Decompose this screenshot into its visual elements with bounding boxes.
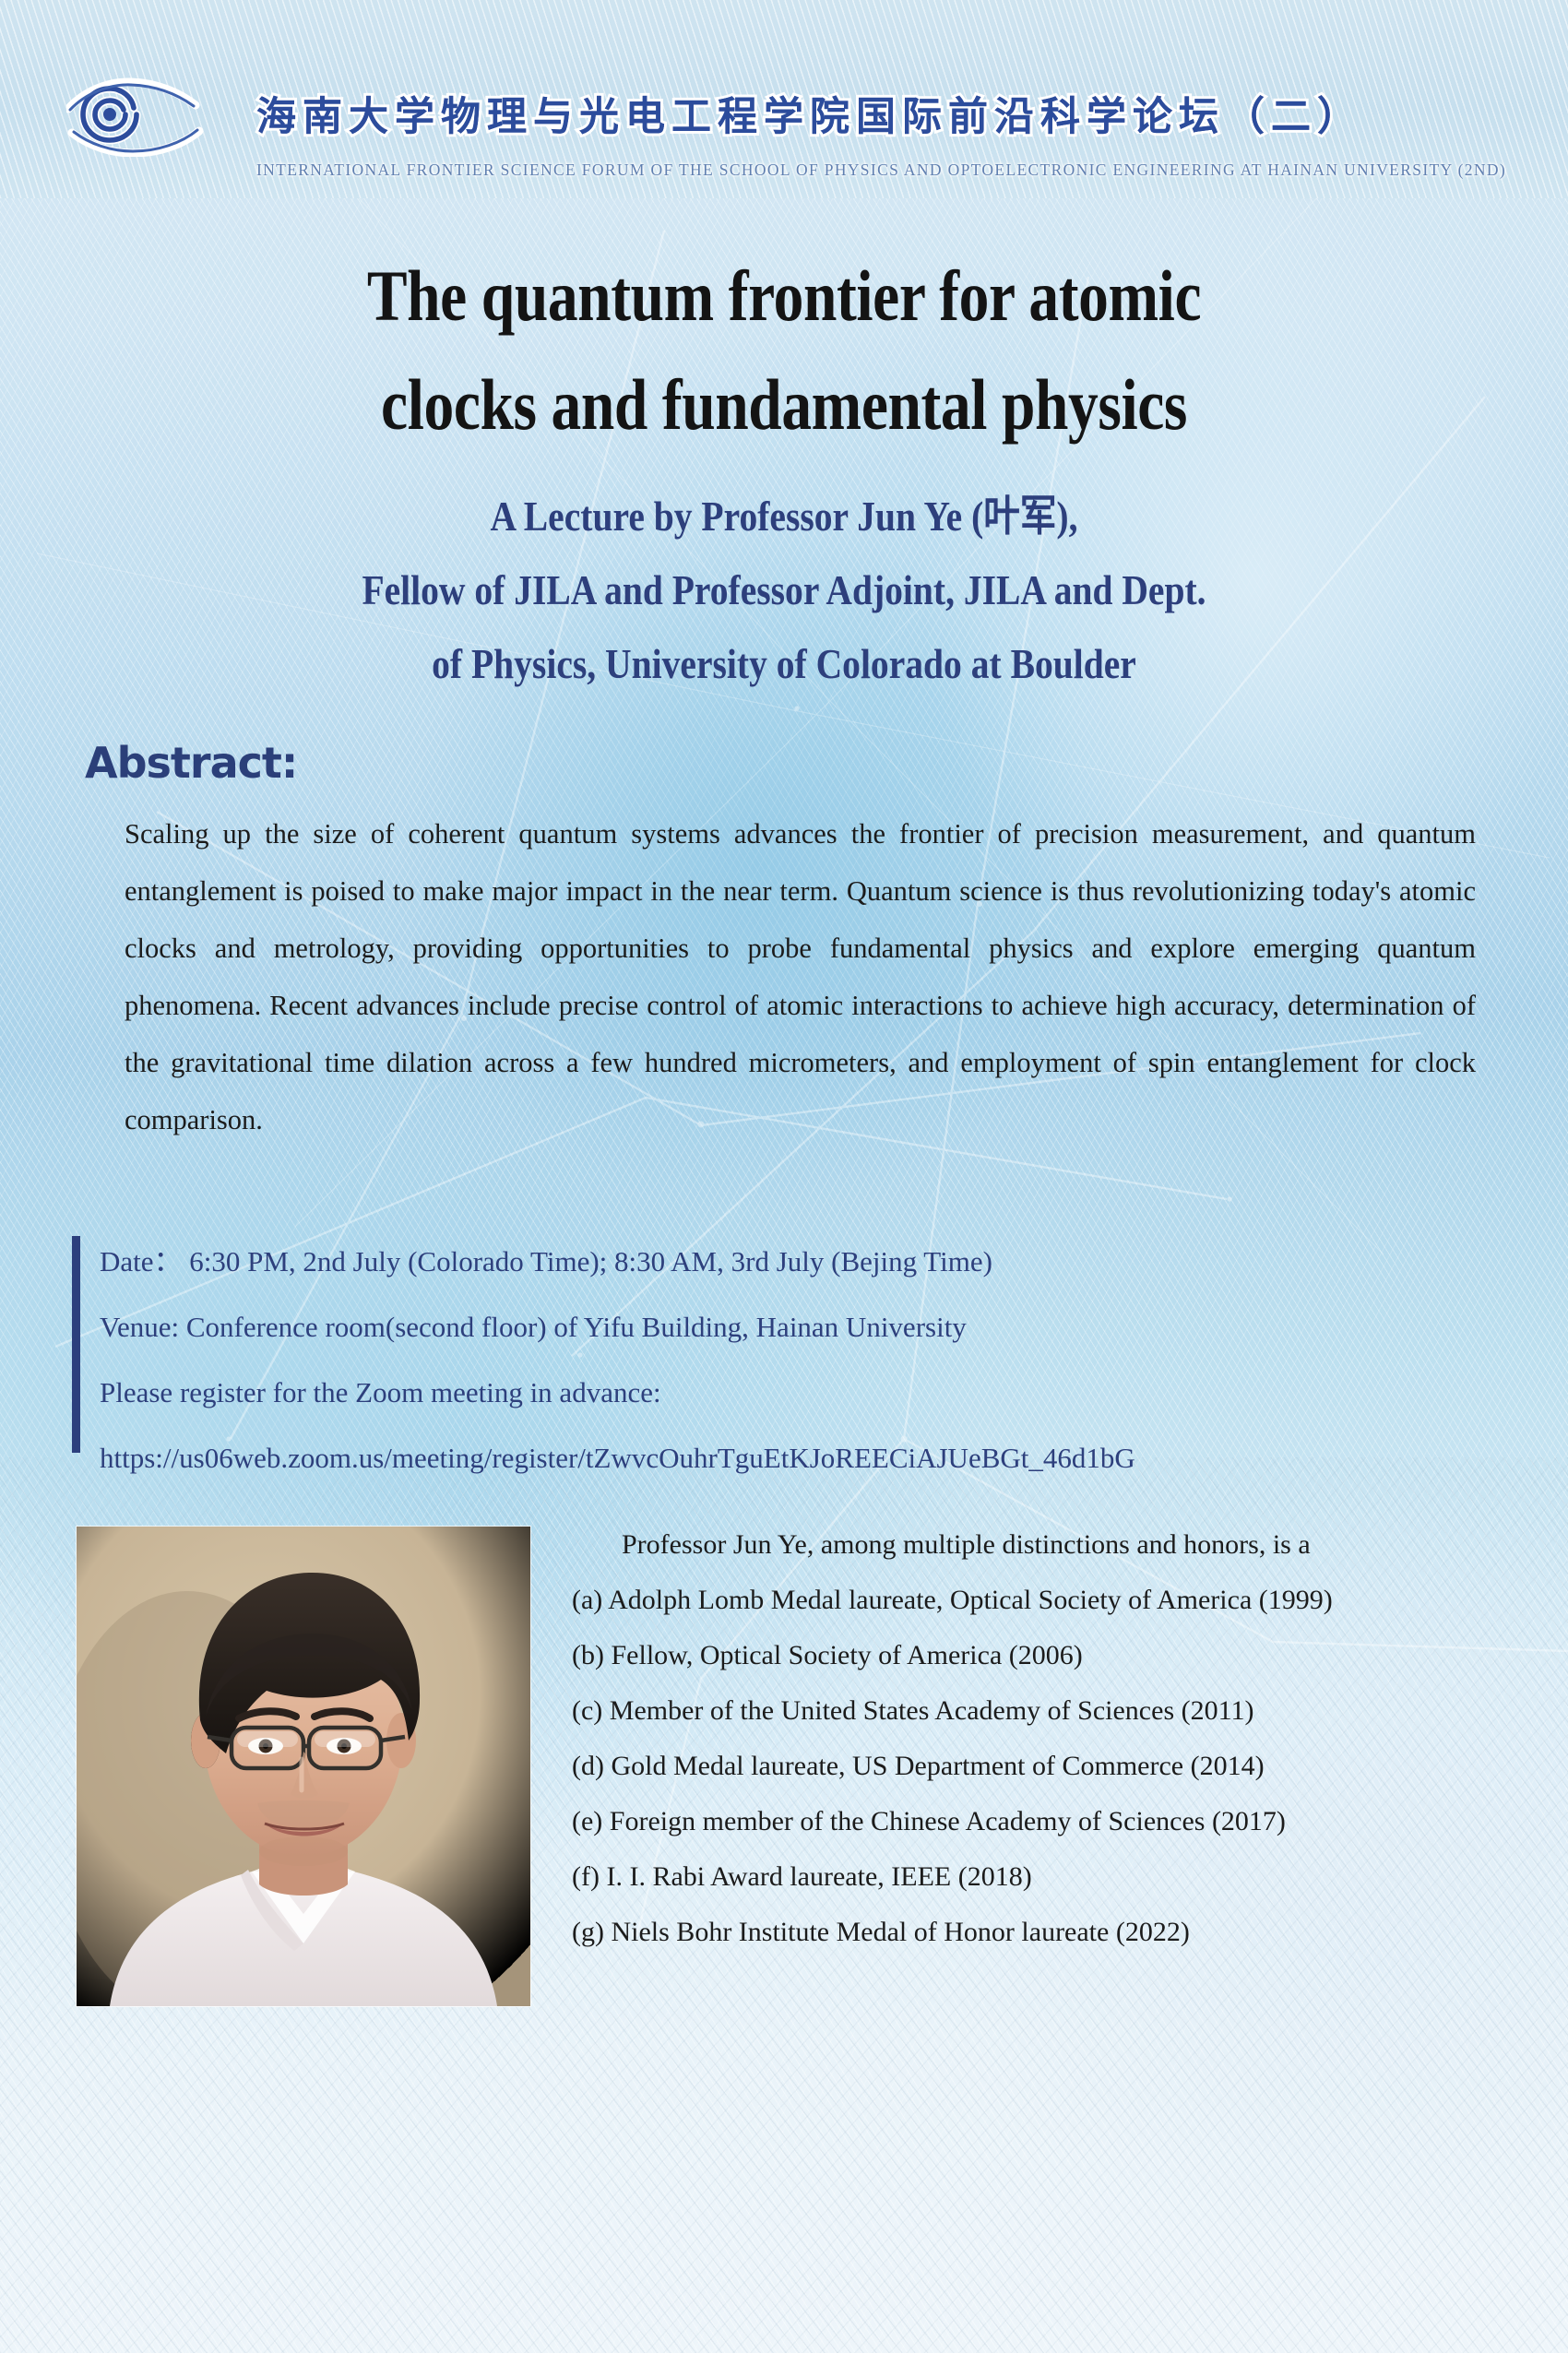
page-title: The quantum frontier for atomic clocks a… (125, 242, 1443, 459)
event-info-accent-bar (72, 1236, 80, 1453)
bio-item-e: (e) Foreign member of the Chinese Academ… (572, 1794, 1471, 1849)
subtitle-line-3: of Physics, University of Colorado at Bo… (110, 627, 1458, 701)
abstract-heading: Abstract: (85, 738, 297, 788)
event-registration-link[interactable]: Please register for the Zoom meeting in … (100, 1360, 1474, 1491)
header-chinese-title: 海南大学物理与光电工程学院国际前沿科学论坛（二） (256, 85, 1363, 142)
header-english-title: INTERNATIONAL FRONTIER SCIENCE FORUM OF … (256, 160, 1506, 180)
bio-item-d: (d) Gold Medal laureate, US Department o… (572, 1739, 1471, 1794)
bio-item-g: (g) Niels Bohr Institute Medal of Honor … (572, 1905, 1471, 1960)
abstract-body: Scaling up the size of coherent quantum … (88, 805, 1476, 1148)
lecture-subtitle: A Lecture by Professor Jun Ye (叶军), Fell… (110, 480, 1458, 701)
subtitle-line-2: Fellow of JILA and Professor Adjoint, JI… (110, 553, 1458, 627)
page-title-line-2: clocks and fundamental physics (125, 351, 1443, 459)
subtitle-line-1: A Lecture by Professor Jun Ye (叶军), (110, 480, 1458, 553)
bio-intro: Professor Jun Ye, among multiple distinc… (572, 1517, 1471, 1573)
poster-canvas: 海南大学物理与光电工程学院国际前沿科学论坛（二） 海南大学物理与光电工程学院国际… (0, 0, 1568, 2353)
portrait-of-professor-jun-ye (77, 1527, 530, 2006)
poster-header-band: 海南大学物理与光电工程学院国际前沿科学论坛（二） 海南大学物理与光电工程学院国际… (0, 0, 1568, 198)
event-venue: Venue: Conference room(second floor) of … (100, 1294, 1474, 1360)
event-info-text: Date： 6:30 PM, 2nd July (Colorado Time);… (100, 1229, 1474, 1491)
bio-item-c: (c) Member of the United States Academy … (572, 1683, 1471, 1739)
event-date: Date： 6:30 PM, 2nd July (Colorado Time);… (100, 1229, 1474, 1294)
bio-item-f: (f) I. I. Rabi Award laureate, IEEE (201… (572, 1849, 1471, 1905)
abstract-paragraph: Scaling up the size of coherent quantum … (88, 805, 1476, 1148)
page-title-line-1: The quantum frontier for atomic (125, 242, 1443, 351)
biography-list: Professor Jun Ye, among multiple distinc… (572, 1517, 1471, 1960)
bio-item-a: (a) Adolph Lomb Medal laureate, Optical … (572, 1573, 1471, 1628)
hainan-university-swirl-logo (66, 72, 205, 157)
bio-item-b: (b) Fellow, Optical Society of America (… (572, 1628, 1471, 1683)
